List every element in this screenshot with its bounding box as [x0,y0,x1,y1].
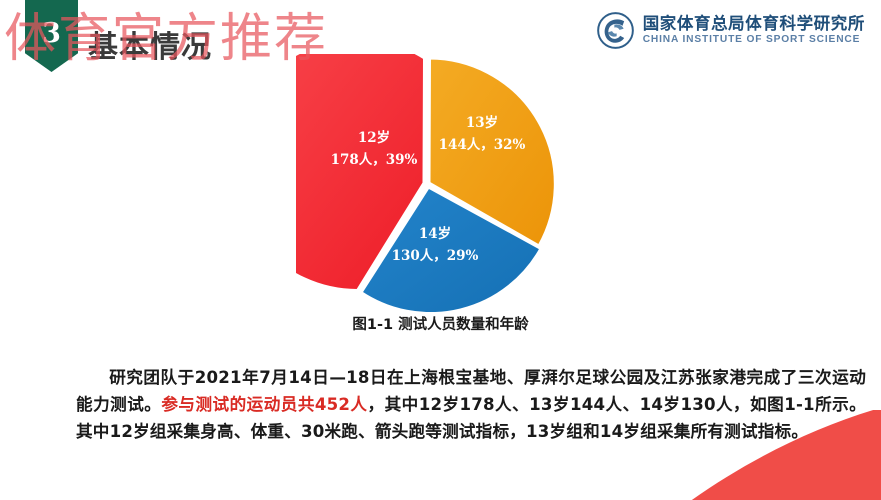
body-text-highlight: 参与测试的运动员共452人 [161,395,367,414]
slide-canvas: 3 体育官方推荐 基本情况 国家体育总局体育科学研究所 CHINA INSTIT… [0,0,881,500]
section-number-ribbon: 3 [25,0,78,72]
figure-caption: 图1-1 测试人员数量和年龄 [0,313,881,334]
body-paragraph: 研究团队于2021年7月14日—18日在上海根宝基地、厚湃尔足球公园及江苏张家港… [76,365,866,446]
pie-slice-12-label-line1: 12岁 [358,129,390,146]
pie-chart-svg: 12岁 178人，39% 13岁 144人，32% 14岁 130人，29% [296,54,556,312]
pie-chart: 12岁 178人，39% 13岁 144人，32% 14岁 130人，29% [296,54,556,312]
logo-name-cn: 国家体育总局体育科学研究所 [643,15,865,32]
institute-logo: 国家体育总局体育科学研究所 CHINA INSTITUTE OF SPORT S… [597,12,865,49]
section-number: 3 [25,18,78,49]
logo-text-block: 国家体育总局体育科学研究所 CHINA INSTITUTE OF SPORT S… [643,15,865,45]
pie-slice-14-label-line1: 14岁 [419,225,451,242]
page-title: 基本情况 [88,22,212,66]
pie-slice-13-label-line2: 144人，32% [439,137,526,153]
pie-slice-14-label-line2: 130人，29% [392,248,479,264]
pie-slice-13-label-line1: 13岁 [466,114,498,131]
logo-name-en: CHINA INSTITUTE OF SPORT SCIENCE [643,35,865,46]
pie-slice-12-label-line2: 178人，39% [331,152,418,168]
sport-science-institute-logo-icon [597,12,634,49]
